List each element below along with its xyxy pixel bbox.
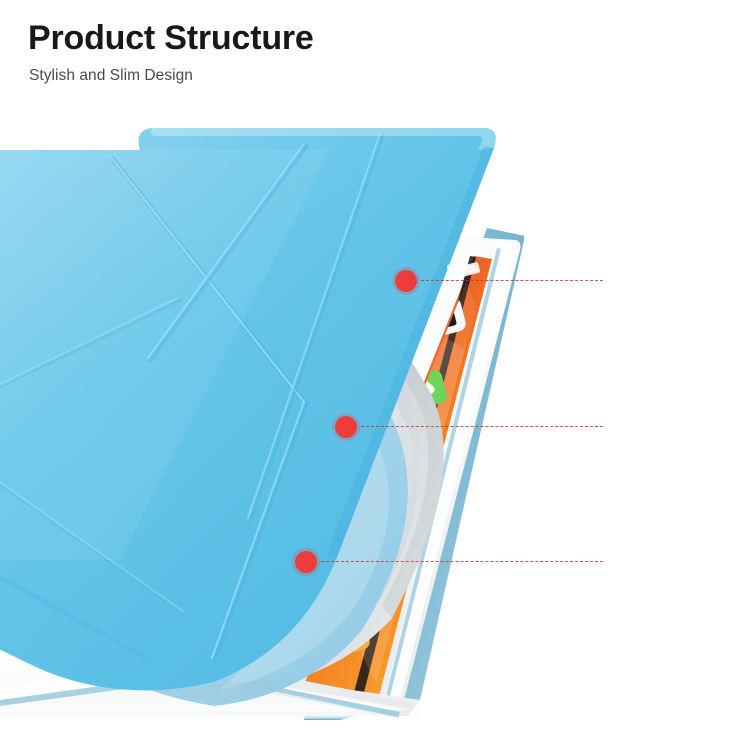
page-title: Product Structure — [28, 20, 628, 57]
callout-leader-line-magnetic-chip — [321, 561, 603, 562]
callout-leader-line-multi-folding — [361, 426, 603, 427]
header: Product Structure Stylish and Slim Desig… — [28, 20, 628, 85]
infographic-canvas: Product Structure Stylish and Slim Desig… — [0, 0, 750, 750]
product-illustration — [0, 0, 750, 750]
callout-leader-line-puleater — [421, 280, 603, 281]
callout-dot-multi-folding[interactable] — [335, 416, 357, 438]
callout-dot-puleater[interactable] — [395, 270, 417, 292]
page-subtitle: Stylish and Slim Design — [29, 67, 628, 85]
callout-dot-magnetic-chip[interactable] — [295, 551, 317, 573]
